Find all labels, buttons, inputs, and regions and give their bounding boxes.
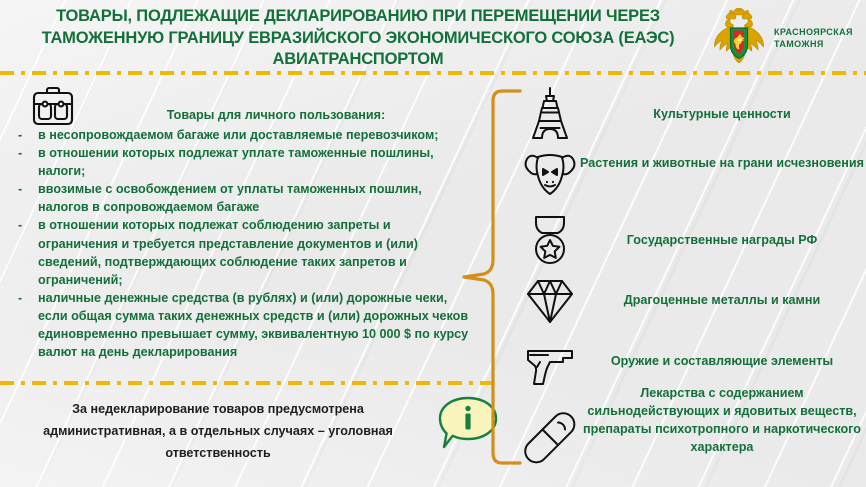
category-label: Лекарства с содержанием сильнодействующи…	[578, 384, 866, 456]
bullet-marker: -	[18, 216, 22, 234]
list-item: - ввозимые с освобождением от уплаты там…	[0, 180, 480, 216]
curly-brace-connector	[462, 88, 524, 466]
list-item-text: в несопровождаемом багаже или доставляем…	[38, 128, 438, 142]
list-item: - в несопровождаемом багаже или доставля…	[0, 126, 480, 144]
bullet-marker: -	[18, 126, 22, 144]
capsule-pill-icon	[522, 410, 578, 466]
divider-middle	[0, 381, 500, 385]
bullet-marker: -	[18, 144, 22, 162]
customs-logo-line1: КРАСНОЯРСКАЯ	[774, 26, 853, 38]
list-item: - в отношении которых подлежат уплате та…	[0, 144, 480, 180]
medal-icon	[522, 212, 578, 268]
declarable-categories-list: Культурные ценности	[516, 84, 866, 484]
pistol-icon	[522, 334, 578, 390]
bullet-marker: -	[18, 289, 22, 307]
customs-logo-text: КРАСНОЯРСКАЯ ТАМОЖНЯ	[774, 26, 853, 50]
bull-head-icon	[522, 146, 578, 202]
category-state-awards: Государственные награды РФ	[516, 210, 866, 272]
category-endangered-species: Растения и животные на грани исчезновени…	[516, 142, 866, 210]
list-item: - наличные денежные средства (в рублях) …	[0, 289, 480, 361]
category-label: Драгоценные металлы и камни	[578, 291, 866, 309]
category-label: Культурные ценности	[578, 105, 866, 123]
eiffel-tower-icon	[522, 86, 578, 142]
list-item-text: в отношении которых подлежат уплате тамо…	[38, 146, 434, 178]
page-title: ТОВАРЫ, ПОДЛЕЖАЩИЕ ДЕКЛАРИРОВАНИЮ ПРИ ПЕ…	[24, 6, 692, 71]
category-label: Растения и животные на грани исчезновени…	[578, 154, 866, 172]
category-precious-metals: Драгоценные металлы и камни	[516, 272, 866, 334]
bullet-marker: -	[18, 180, 22, 198]
customs-logo-line2: ТАМОЖНЯ	[774, 38, 853, 50]
list-item-text: ввозимые с освобождением от уплаты тамож…	[38, 182, 422, 214]
liability-note-text: За недекларирование товаров предусмотрен…	[12, 398, 424, 464]
category-label: Оружие и составляющие элементы	[578, 352, 866, 370]
infographic-poster: ТОВАРЫ, ПОДЛЕЖАЩИЕ ДЕКЛАРИРОВАНИЮ ПРИ ПЕ…	[0, 0, 866, 487]
personal-goods-heading: Товары для личного пользования:	[86, 108, 466, 123]
liability-note: За недекларирование товаров предусмотрен…	[0, 392, 500, 482]
diamond-icon	[522, 272, 578, 328]
list-item: - в отношении которых подлежат соблюдени…	[0, 216, 480, 288]
list-item-text: в отношении которых подлежат соблюдению …	[38, 218, 418, 286]
category-label: Государственные награды РФ	[578, 231, 866, 249]
personal-goods-section: Товары для личного пользования: - в несо…	[0, 78, 480, 378]
divider-top	[0, 71, 866, 75]
list-item-text: наличные денежные средства (в рублях) и …	[38, 291, 468, 359]
personal-goods-list: - в несопровождаемом багаже или доставля…	[0, 126, 480, 361]
category-cultural-values: Культурные ценности	[516, 84, 866, 146]
header: ТОВАРЫ, ПОДЛЕЖАЩИЕ ДЕКЛАРИРОВАНИЮ ПРИ ПЕ…	[0, 0, 866, 72]
double-headed-eagle-emblem-icon	[712, 8, 766, 66]
category-medicines: Лекарства с содержанием сильнодействующи…	[516, 384, 866, 484]
briefcase-icon	[30, 86, 76, 128]
customs-logo: КРАСНОЯРСКАЯ ТАМОЖНЯ	[704, 8, 859, 66]
